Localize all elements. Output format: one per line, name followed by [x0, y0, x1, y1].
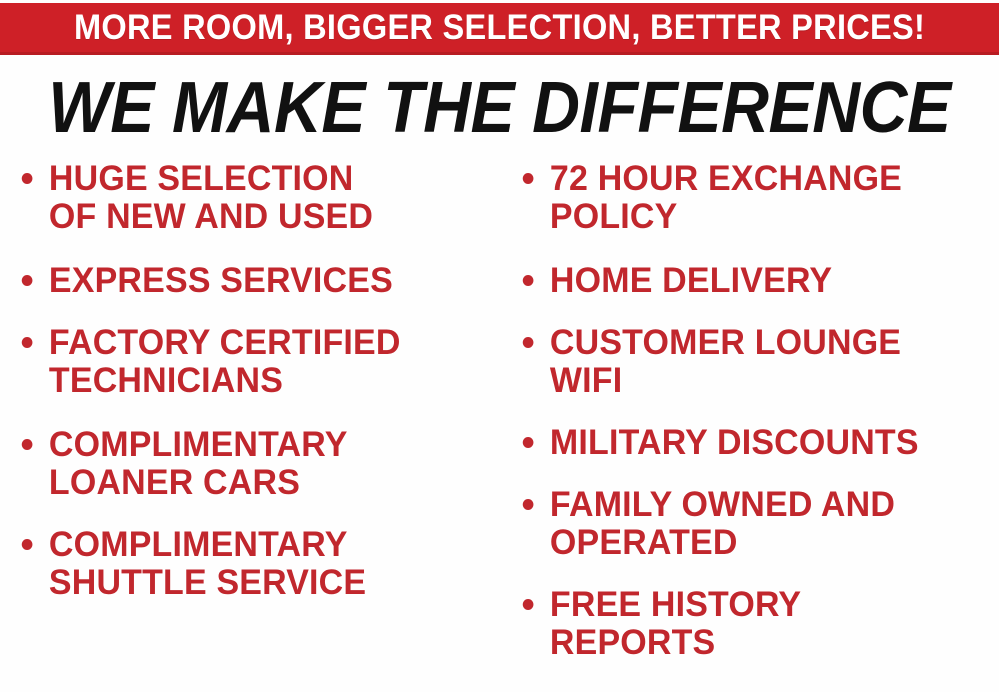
list-item: FACTORY CERTIFIED TECHNICIANS: [14, 324, 489, 400]
list-item: EXPRESS SERVICES: [14, 262, 489, 300]
list-item-label: FACTORY CERTIFIED TECHNICIANS: [49, 324, 489, 400]
list-item: MILITARY DISCOUNTS: [515, 424, 984, 462]
bullet-dot-icon: [523, 499, 534, 510]
promo-poster: MORE ROOM, BIGGER SELECTION, BETTER PRIC…: [0, 0, 999, 692]
list-item-label: FAMILY OWNED AND OPERATED: [550, 486, 985, 562]
bullet-dot-icon: [523, 437, 534, 448]
list-item: HUGE SELECTION OF NEW AND USED: [14, 160, 489, 236]
list-item-label: COMPLIMENTARY SHUTTLE SERVICE: [49, 526, 489, 602]
benefits-column-right: 72 HOUR EXCHANGE POLICY HOME DELIVERY CU…: [515, 160, 999, 682]
bullet-dot-icon: [523, 173, 534, 184]
bullet-dot-icon: [22, 337, 33, 348]
list-item: FREE HISTORY REPORTS: [515, 586, 984, 662]
bullet-dot-icon: [22, 439, 33, 450]
list-item-label: 72 HOUR EXCHANGE POLICY: [550, 160, 985, 236]
list-item: COMPLIMENTARY LOANER CARS: [14, 426, 489, 502]
list-item-label: HOME DELIVERY: [550, 262, 985, 300]
bullet-dot-icon: [22, 539, 33, 550]
bullet-dot-icon: [22, 173, 33, 184]
list-item: CUSTOMER LOUNGE WIFI: [515, 324, 984, 400]
top-banner: MORE ROOM, BIGGER SELECTION, BETTER PRIC…: [0, 3, 999, 55]
list-item-label: HUGE SELECTION OF NEW AND USED: [49, 160, 489, 236]
list-item: FAMILY OWNED AND OPERATED: [515, 486, 984, 562]
list-item: 72 HOUR EXCHANGE POLICY: [515, 160, 984, 236]
bullet-dot-icon: [22, 275, 33, 286]
benefits-columns: HUGE SELECTION OF NEW AND USED EXPRESS S…: [0, 160, 999, 692]
bullet-dot-icon: [523, 337, 534, 348]
list-item-label: CUSTOMER LOUNGE WIFI: [550, 324, 985, 400]
bullet-dot-icon: [523, 275, 534, 286]
list-item-label: COMPLIMENTARY LOANER CARS: [49, 426, 489, 502]
benefits-column-left: HUGE SELECTION OF NEW AND USED EXPRESS S…: [14, 160, 504, 622]
list-item-label: FREE HISTORY REPORTS: [550, 586, 985, 662]
banner-headline-text: MORE ROOM, BIGGER SELECTION, BETTER PRIC…: [74, 10, 925, 45]
list-item: COMPLIMENTARY SHUTTLE SERVICE: [14, 526, 489, 602]
bullet-dot-icon: [523, 599, 534, 610]
list-item: HOME DELIVERY: [515, 262, 984, 300]
page-title: WE MAKE THE DIFFERENCE: [40, 72, 959, 144]
list-item-label: MILITARY DISCOUNTS: [550, 424, 985, 462]
list-item-label: EXPRESS SERVICES: [49, 262, 489, 300]
